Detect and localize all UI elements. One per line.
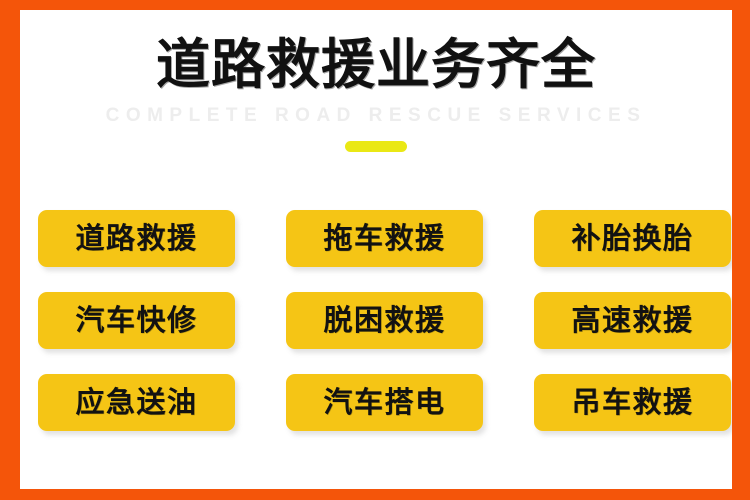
frame-border-bottom [0, 489, 750, 500]
page-subtitle: COMPLETE ROAD RESCUE SERVICES [20, 93, 732, 127]
service-poster: 道路救援业务齐全 COMPLETE ROAD RESCUE SERVICES 道… [0, 0, 750, 500]
service-button-label: 吊车救援 [571, 388, 693, 417]
service-button-label: 脱困救援 [323, 306, 445, 335]
service-button-highway-rescue[interactable]: 高速救援 [534, 292, 731, 349]
service-button-crane-rescue[interactable]: 吊车救援 [534, 374, 731, 431]
service-button-tow-rescue[interactable]: 拖车救援 [286, 210, 483, 267]
service-button-tire-repair[interactable]: 补胎换胎 [534, 210, 731, 267]
service-button-label: 道路救援 [75, 224, 197, 253]
title-divider [345, 141, 407, 152]
service-button-jump-start[interactable]: 汽车搭电 [286, 374, 483, 431]
service-button-emergency-fuel[interactable]: 应急送油 [38, 374, 235, 431]
page-title: 道路救援业务齐全 [20, 10, 732, 93]
service-button-label: 高速救援 [571, 306, 693, 335]
service-button-road-rescue[interactable]: 道路救援 [38, 210, 235, 267]
service-button-label: 应急送油 [75, 388, 197, 417]
service-button-extrication-rescue[interactable]: 脱困救援 [286, 292, 483, 349]
service-button-label: 拖车救援 [323, 224, 445, 253]
poster-header: 道路救援业务齐全 COMPLETE ROAD RESCUE SERVICES [20, 10, 732, 152]
service-button-label: 汽车搭电 [323, 388, 445, 417]
frame-border-right [732, 0, 750, 500]
service-button-label: 补胎换胎 [571, 224, 693, 253]
divider-container [20, 127, 732, 152]
frame-border-left [0, 0, 20, 500]
service-button-label: 汽车快修 [75, 306, 197, 335]
frame-border-top [0, 0, 750, 10]
poster-content-area: 道路救援业务齐全 COMPLETE ROAD RESCUE SERVICES 道… [20, 10, 732, 489]
service-button-quick-repair[interactable]: 汽车快修 [38, 292, 235, 349]
service-button-grid: 道路救援 拖车救援 补胎换胎 汽车快修 脱困救援 高速救援 应急送油 汽车搭电 [38, 210, 732, 431]
